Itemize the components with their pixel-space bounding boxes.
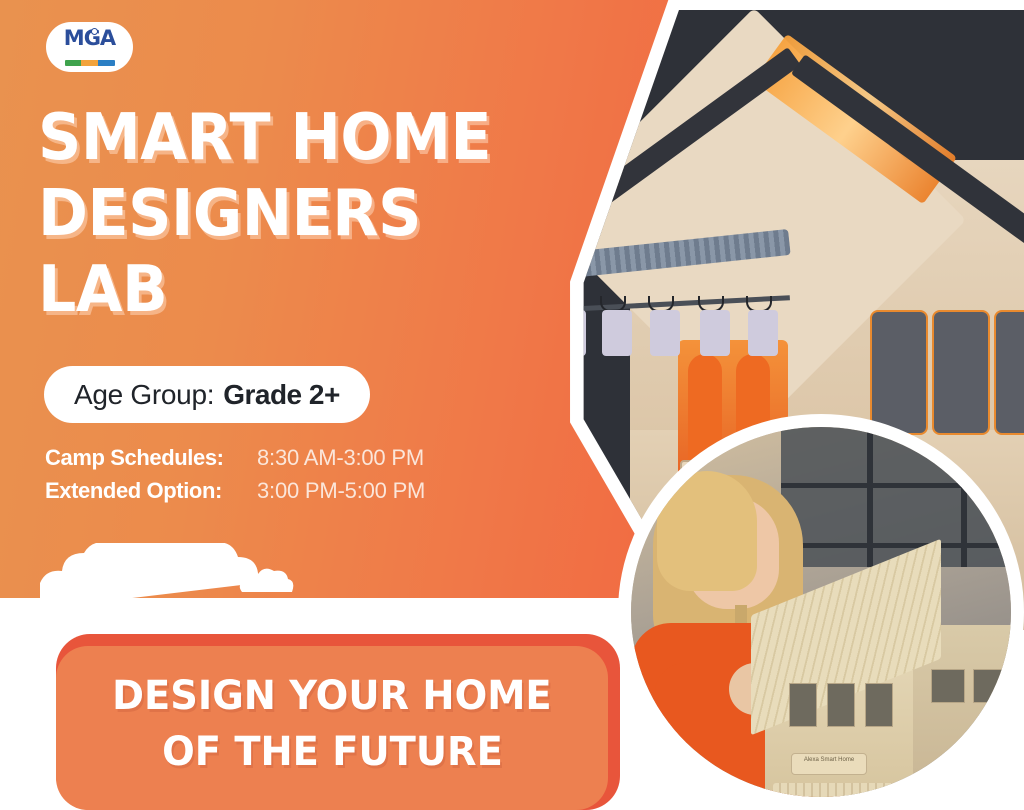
- house-name-plate: Alexa Smart Home: [791, 753, 867, 775]
- schedule-list: Camp Schedules: 8:30 AM-3:00 PM Extended…: [45, 445, 425, 511]
- page-title: SMART HOME DESIGNERS LAB: [38, 100, 527, 328]
- age-group-value: Grade 2+: [223, 379, 340, 411]
- circle-photo: Alexa Smart Home: [618, 414, 1024, 810]
- logo-bar-green: [65, 60, 82, 66]
- logo-bar-orange: [81, 60, 98, 66]
- schedule-row: Extended Option: 3:00 PM-5:00 PM: [45, 478, 425, 504]
- age-group-badge: Age Group: Grade 2+: [44, 366, 370, 423]
- age-group-label: Age Group:: [74, 379, 214, 411]
- camp-schedules-value: 8:30 AM-3:00 PM: [257, 445, 424, 471]
- logo-color-bar: [65, 60, 115, 66]
- title-line-1: SMART HOME: [38, 100, 527, 176]
- house-name-plate-text: Alexa Smart Home: [792, 754, 866, 765]
- extended-option-label: Extended Option:: [45, 478, 257, 504]
- schedule-row: Camp Schedules: 8:30 AM-3:00 PM: [45, 445, 425, 471]
- model-house: Alexa Smart Home: [743, 547, 1011, 797]
- tagline-banner: DESIGN YOUR HOME OF THE FUTURE: [56, 646, 608, 810]
- camp-schedules-label: Camp Schedules:: [45, 445, 257, 471]
- mga-logo-icon: MGA: [61, 28, 119, 58]
- title-line-2: DESIGNERS: [38, 176, 527, 252]
- banner-line-1: DESIGN YOUR HOME: [112, 668, 552, 724]
- extended-option-value: 3:00 PM-5:00 PM: [257, 478, 425, 504]
- logo-gear-dot-icon: [91, 28, 98, 35]
- mga-logo-badge[interactable]: MGA: [46, 22, 133, 72]
- cloud-small-icon: [238, 566, 294, 592]
- logo-wordmark: MGA: [64, 28, 115, 48]
- circle-photo-image: Alexa Smart Home: [631, 427, 1011, 797]
- promo-poster: MGA SMART HOME DESIGNERS LAB Age Group: …: [0, 0, 1024, 810]
- cloud-large-icon: [40, 543, 340, 609]
- banner-line-2: OF THE FUTURE: [162, 724, 503, 780]
- logo-bar-blue: [98, 60, 115, 66]
- title-line-3: LAB: [38, 252, 527, 328]
